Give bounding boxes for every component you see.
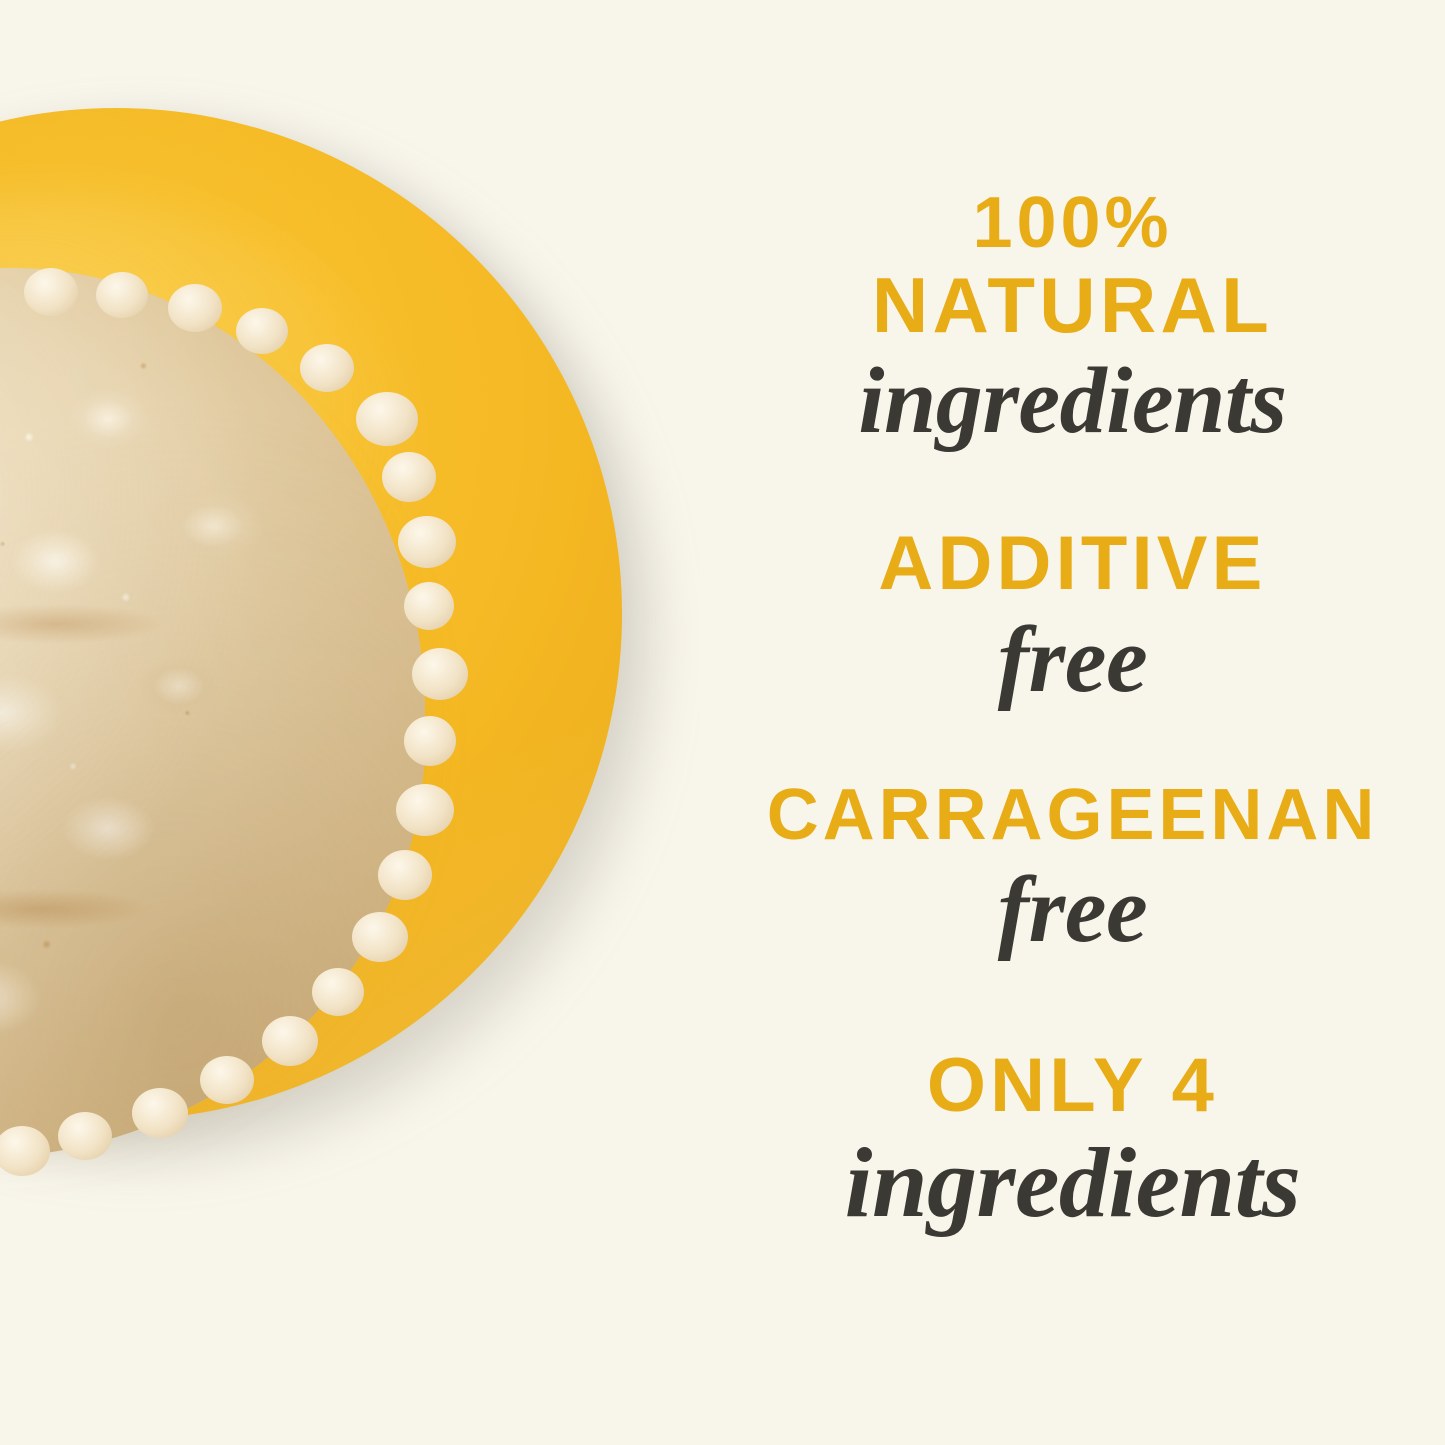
food-edge-lobe — [352, 912, 408, 962]
food-edge-lobe — [24, 268, 78, 316]
food-edge-lobe — [398, 516, 456, 568]
food-mound — [0, 268, 425, 1158]
claim-natural-script: ingredients — [700, 354, 1445, 448]
claim-only4: ONLY 4 ingredients — [700, 1046, 1445, 1233]
food-edge-lobe — [236, 308, 288, 354]
claim-only4-heading: ONLY 4 — [700, 1046, 1445, 1125]
claim-carrageenan-heading: CARRAGEENAN — [700, 778, 1445, 853]
food-texture-speckle — [0, 268, 425, 1158]
product-benefits-graphic: 100% NATURAL ingredients ADDITIVE free C… — [0, 0, 1445, 1445]
claim-additive: ADDITIVE free — [700, 524, 1445, 707]
food-edge-lobe — [96, 272, 148, 318]
food-edge-lobe — [404, 716, 456, 766]
food-edge-lobe — [262, 1016, 318, 1066]
food-edge-lobe — [58, 1112, 112, 1160]
claim-only4-script: ingredients — [700, 1133, 1445, 1233]
claim-carrageenan-script: free — [700, 863, 1445, 957]
food-edge-lobe — [300, 344, 354, 392]
food-edge-lobe — [168, 284, 222, 332]
claim-additive-heading: ADDITIVE — [700, 524, 1445, 603]
food-edge-lobe — [200, 1056, 254, 1104]
food-edge-lobe — [132, 1088, 188, 1138]
claim-additive-script: free — [700, 613, 1445, 707]
food-edge-lobe — [378, 850, 432, 900]
claim-natural-heading-2: NATURAL — [700, 265, 1445, 346]
claim-carrageenan: CARRAGEENAN free — [700, 778, 1445, 957]
food-edge-lobe — [382, 452, 436, 502]
claim-natural-heading-1: 100% — [700, 186, 1445, 261]
food-edge-lobe — [412, 648, 468, 700]
food-edge-lobe — [404, 582, 454, 630]
food-photo — [0, 0, 700, 1445]
food-edge-lobe — [312, 968, 364, 1016]
food-edge-lobe — [396, 784, 454, 836]
benefit-claims-list: 100% NATURAL ingredients ADDITIVE free C… — [700, 0, 1445, 1445]
claim-natural: 100% NATURAL ingredients — [700, 186, 1445, 448]
food-edge-lobe — [356, 392, 418, 446]
